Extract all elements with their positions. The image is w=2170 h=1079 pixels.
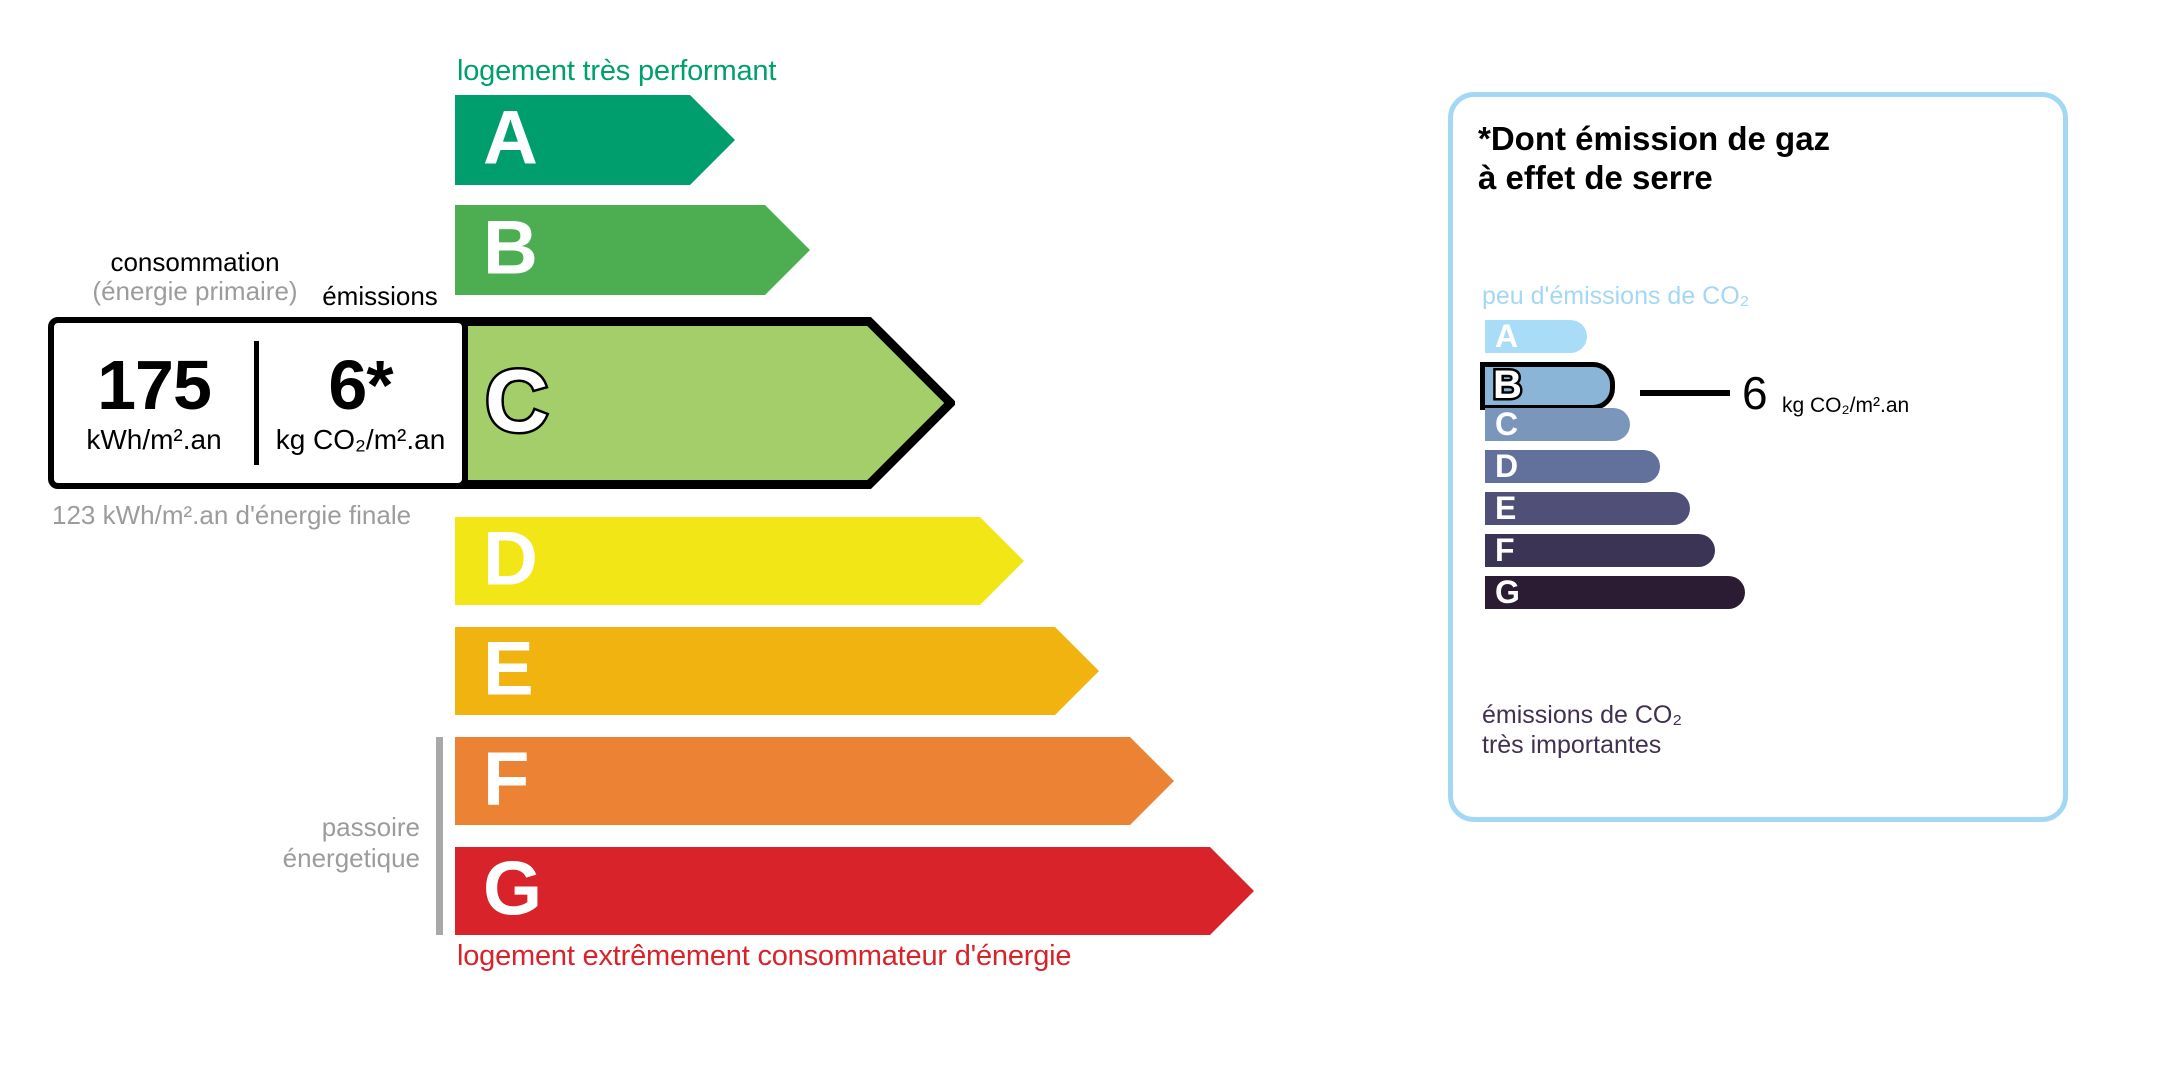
energy-band-letter: D bbox=[483, 521, 538, 597]
co2-bar-g: G bbox=[1485, 576, 1745, 609]
co2-bar-letter: E bbox=[1495, 492, 1516, 524]
band-arrow-shape bbox=[455, 847, 1254, 935]
energy-band-letter: F bbox=[483, 741, 529, 817]
co2-bottom-caption: émissions de CO₂ très importantes bbox=[1482, 700, 1682, 760]
co2-top-caption: peu d'émissions de CO₂ bbox=[1482, 282, 1749, 311]
energy-band-d: D bbox=[455, 517, 1024, 605]
co2-bar-c: C bbox=[1485, 408, 1630, 441]
emission-value: 6* bbox=[328, 350, 392, 420]
energy-band-letter: G bbox=[483, 851, 542, 927]
consumption-label: consommation (énergie primaire) bbox=[70, 248, 320, 306]
energy-band-g: G bbox=[455, 847, 1254, 935]
consumption-label-sub: (énergie primaire) bbox=[70, 277, 320, 306]
energy-band-letter: E bbox=[483, 631, 534, 707]
co2-bar-letter: D bbox=[1495, 450, 1518, 482]
value-box: 175 kWh/m².an 6* kg CO₂/m².an bbox=[48, 317, 468, 489]
co2-leader-line bbox=[1640, 390, 1730, 396]
energy-top-caption: logement très performant bbox=[457, 55, 776, 88]
energy-band-letter: C bbox=[485, 357, 549, 445]
energy-bottom-caption: logement extrêmement consommateur d'éner… bbox=[457, 940, 1071, 973]
emissions-label: émissions bbox=[300, 281, 460, 312]
band-arrow-shape bbox=[455, 627, 1099, 715]
co2-unit: kg CO₂/m².an bbox=[1782, 395, 1909, 416]
energy-band-a: A bbox=[455, 95, 735, 185]
co2-bar-letter: B bbox=[1493, 365, 1522, 405]
co2-bar-letter: C bbox=[1495, 408, 1518, 440]
energy-scale: logement très performant ABCDEFG consomm… bbox=[0, 0, 1400, 1079]
primary-consumption-unit: kWh/m².an bbox=[86, 424, 221, 456]
co2-bar-f: F bbox=[1485, 534, 1715, 567]
consumption-label-main: consommation bbox=[70, 248, 320, 277]
energy-band-letter: A bbox=[483, 100, 538, 176]
energy-band-f: F bbox=[455, 737, 1174, 825]
co2-bar-d: D bbox=[1485, 450, 1660, 483]
passoire-marker-bar bbox=[436, 737, 443, 935]
co2-bar-letter: F bbox=[1495, 534, 1515, 566]
final-energy-note: 123 kWh/m².an d'énergie finale bbox=[52, 500, 411, 531]
primary-consumption-value: 175 bbox=[97, 350, 211, 420]
passoire-label: passoire énergetique bbox=[200, 812, 420, 874]
emission-unit: kg CO₂/m².an bbox=[276, 424, 446, 456]
co2-bar-a: A bbox=[1485, 320, 1587, 353]
co2-value: 6 bbox=[1742, 370, 1768, 416]
co2-bar-b: B bbox=[1480, 362, 1615, 410]
co2-bar-letter: G bbox=[1495, 576, 1520, 608]
energy-band-c: C bbox=[455, 317, 955, 489]
band-arrow-shape bbox=[455, 517, 1024, 605]
energy-band-e: E bbox=[455, 627, 1099, 715]
dpe-diagram: logement très performant ABCDEFG consomm… bbox=[0, 0, 2170, 1079]
co2-bar-e: E bbox=[1485, 492, 1690, 525]
band-arrow-shape bbox=[455, 737, 1174, 825]
emission-value-cell: 6* kg CO₂/m².an bbox=[259, 323, 462, 483]
primary-consumption-cell: 175 kWh/m².an bbox=[54, 323, 254, 483]
co2-panel-title: *Dont émission de gaz à effet de serre bbox=[1478, 120, 1830, 198]
energy-band-b: B bbox=[455, 205, 810, 295]
energy-band-letter: B bbox=[483, 210, 538, 286]
co2-bar-letter: A bbox=[1495, 320, 1518, 352]
